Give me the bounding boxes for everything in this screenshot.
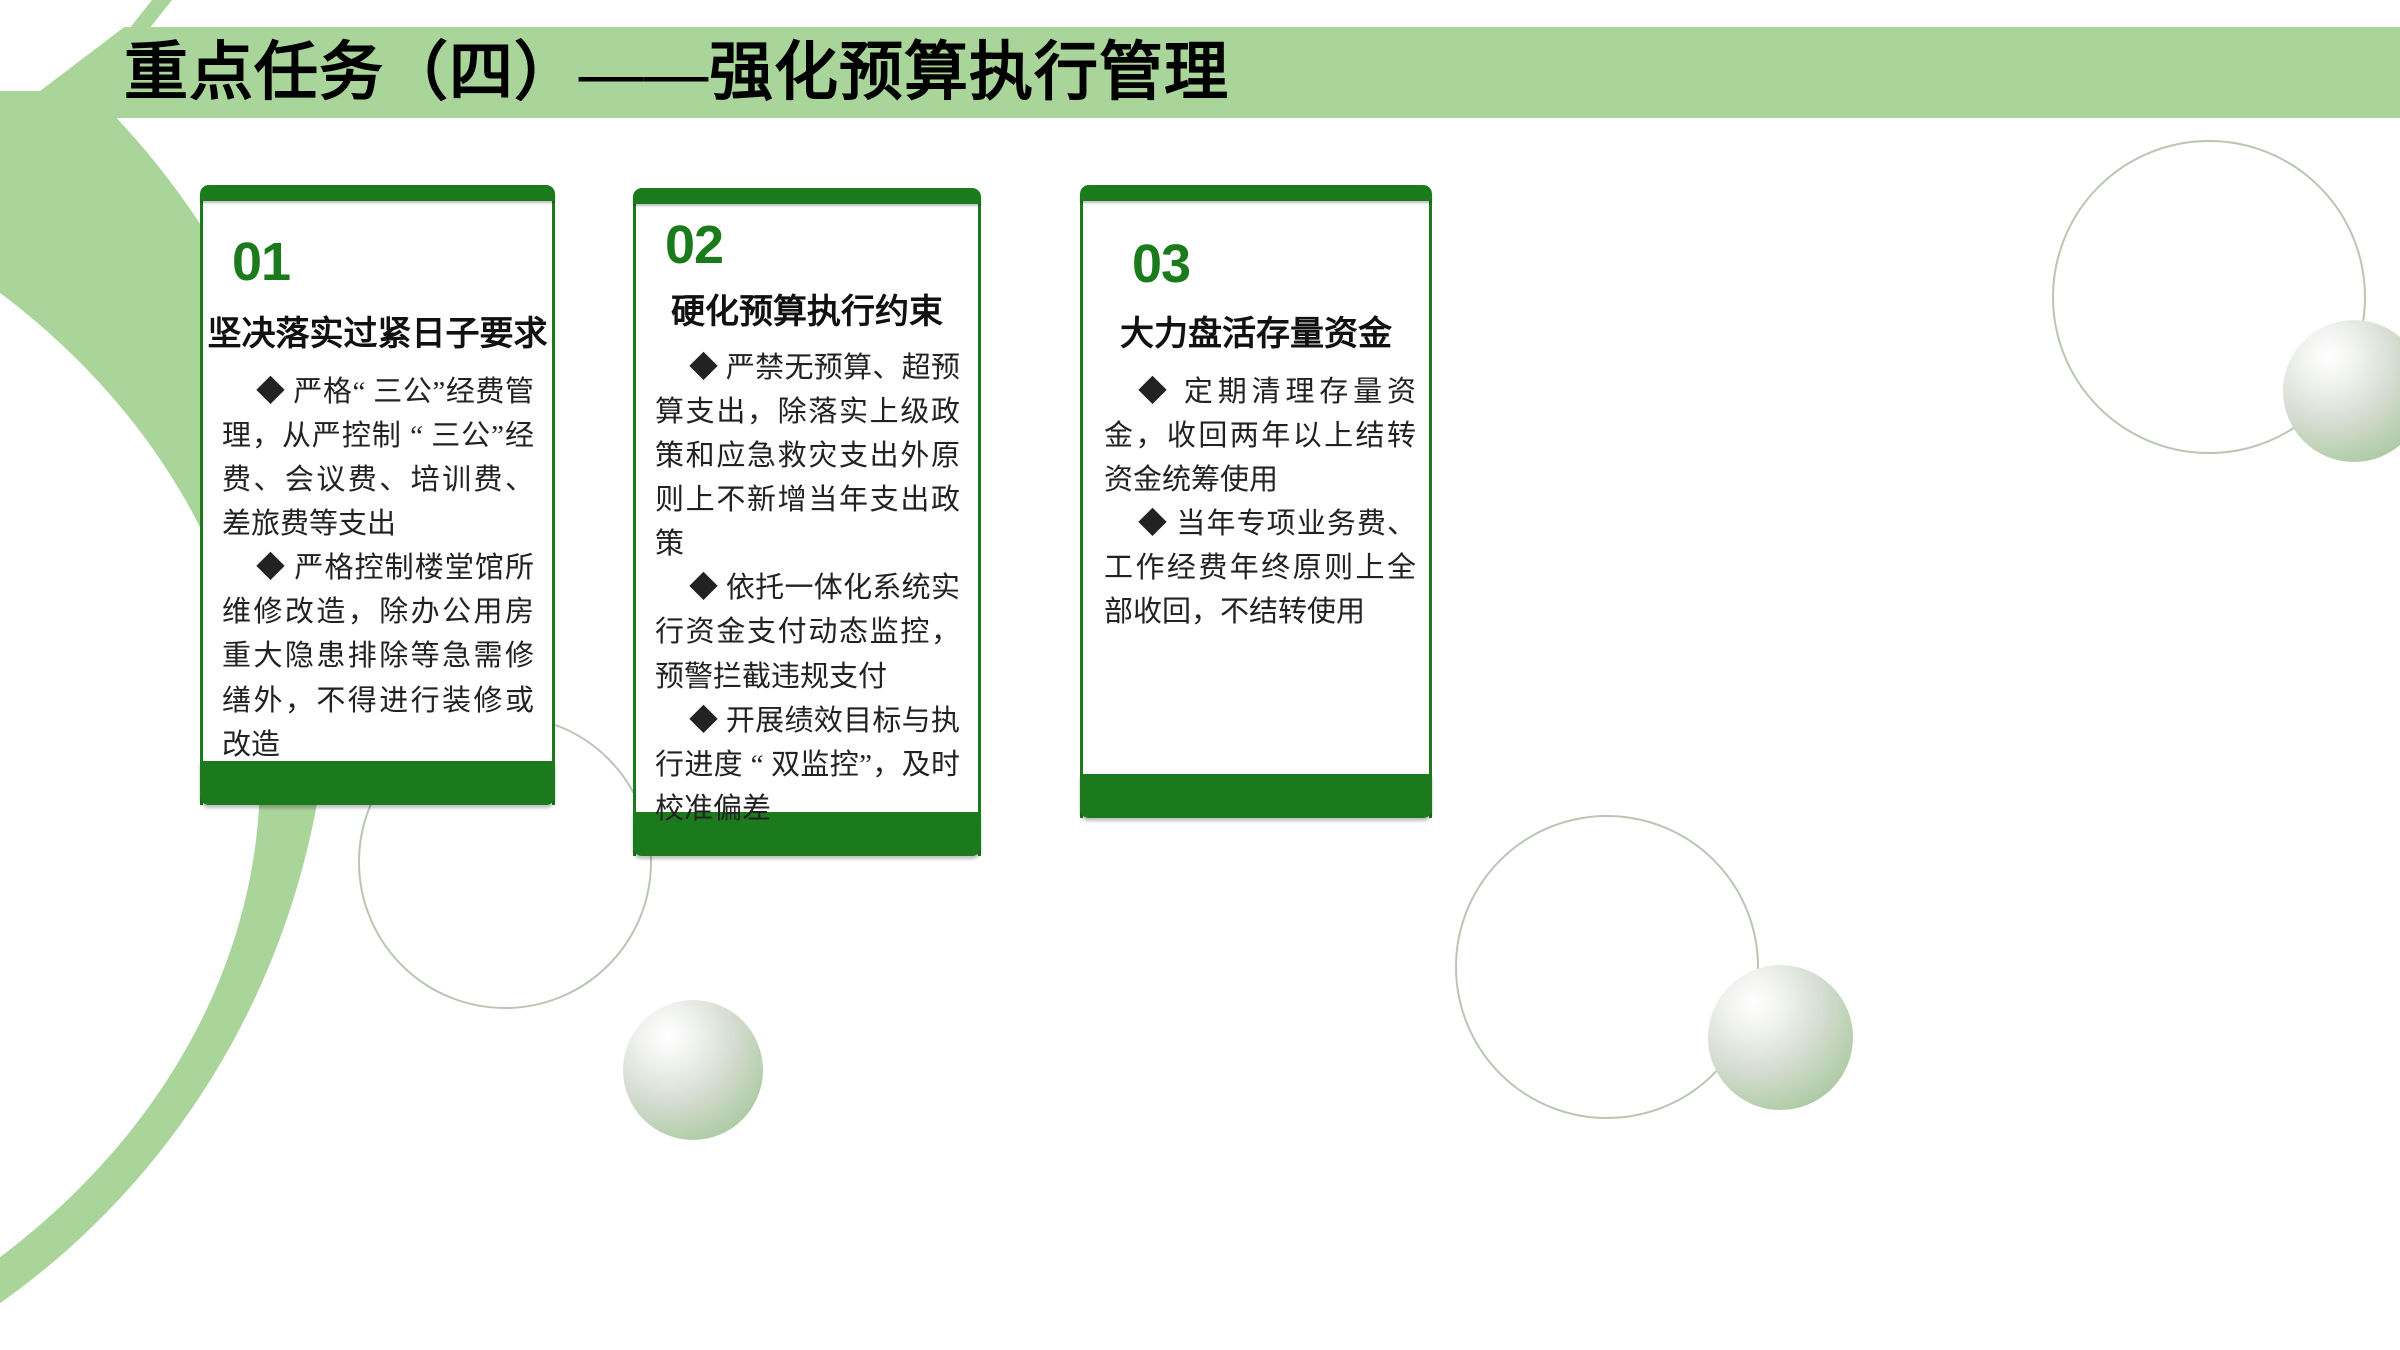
card-03-top-accent [1080, 185, 1432, 201]
page-title: 重点任务（四）——强化预算执行管理 [124, 27, 2324, 118]
task-card-02[interactable]: 02 硬化预算执行约束 ◆ 严禁无预算、超预算支出，除落实上级政策和应急救灾支出… [633, 188, 981, 856]
card-03-bullet-1: ◆ 定期清理存量资金，收回两年以上结转资金统筹使用 [1104, 370, 1416, 502]
card-02-title: 硬化预算执行约束 [633, 293, 981, 334]
sphere-middle-icon [1708, 965, 1853, 1110]
card-01-number: 01 [232, 235, 290, 289]
ring-middle-icon [1455, 815, 1759, 1119]
card-02-bullet-2: ◆ 依托一体化系统实行资金支付动态监控，预警拦截违规支付 [655, 566, 960, 698]
card-02-text: ◆ 严禁无预算、超预算支出，除落实上级政策和应急救灾支出外原则上不新增当年支出政… [655, 346, 960, 831]
card-02-top-accent [633, 188, 981, 204]
card-03-text: ◆ 定期清理存量资金，收回两年以上结转资金统筹使用 ◆ 当年专项业务费、工作经费… [1104, 370, 1416, 634]
sphere-left-icon [623, 1000, 763, 1140]
card-02-bullet-1: ◆ 严禁无预算、超预算支出，除落实上级政策和应急救灾支出外原则上不新增当年支出政… [655, 346, 960, 566]
card-03-bottom-accent [1080, 774, 1432, 818]
card-03-bullet-2: ◆ 当年专项业务费、工作经费年终原则上全部收回，不结转使用 [1104, 502, 1416, 634]
card-01-bullet-2: ◆ 严格控制楼堂馆所维修改造，除办公用房重大隐患排除等急需修缮外，不得进行装修或… [222, 546, 534, 766]
slide-canvas: 重点任务（四）——强化预算执行管理 01 坚决落实过紧日子要求 ◆ 严格“ 三公… [0, 0, 2400, 1350]
card-01-bullet-1: ◆ 严格“ 三公”经费管理，从严控制 “ 三公”经费、会议费、培训费、差旅费等支… [222, 370, 534, 546]
card-01-text: ◆ 严格“ 三公”经费管理，从严控制 “ 三公”经费、会议费、培训费、差旅费等支… [222, 370, 534, 767]
card-02-bullet-3: ◆ 开展绩效目标与执行进度 “ 双监控”，及时校准偏差 [655, 699, 960, 831]
card-01-bottom-accent [200, 761, 555, 805]
card-02-number: 02 [665, 218, 723, 272]
card-01-title: 坚决落实过紧日子要求 [200, 315, 555, 356]
card-03-title: 大力盘活存量资金 [1080, 315, 1432, 356]
card-03-number: 03 [1132, 237, 1190, 291]
task-card-03[interactable]: 03 大力盘活存量资金 ◆ 定期清理存量资金，收回两年以上结转资金统筹使用 ◆ … [1080, 185, 1432, 818]
task-card-01[interactable]: 01 坚决落实过紧日子要求 ◆ 严格“ 三公”经费管理，从严控制 “ 三公”经费… [200, 185, 555, 805]
card-01-top-accent [200, 185, 555, 201]
